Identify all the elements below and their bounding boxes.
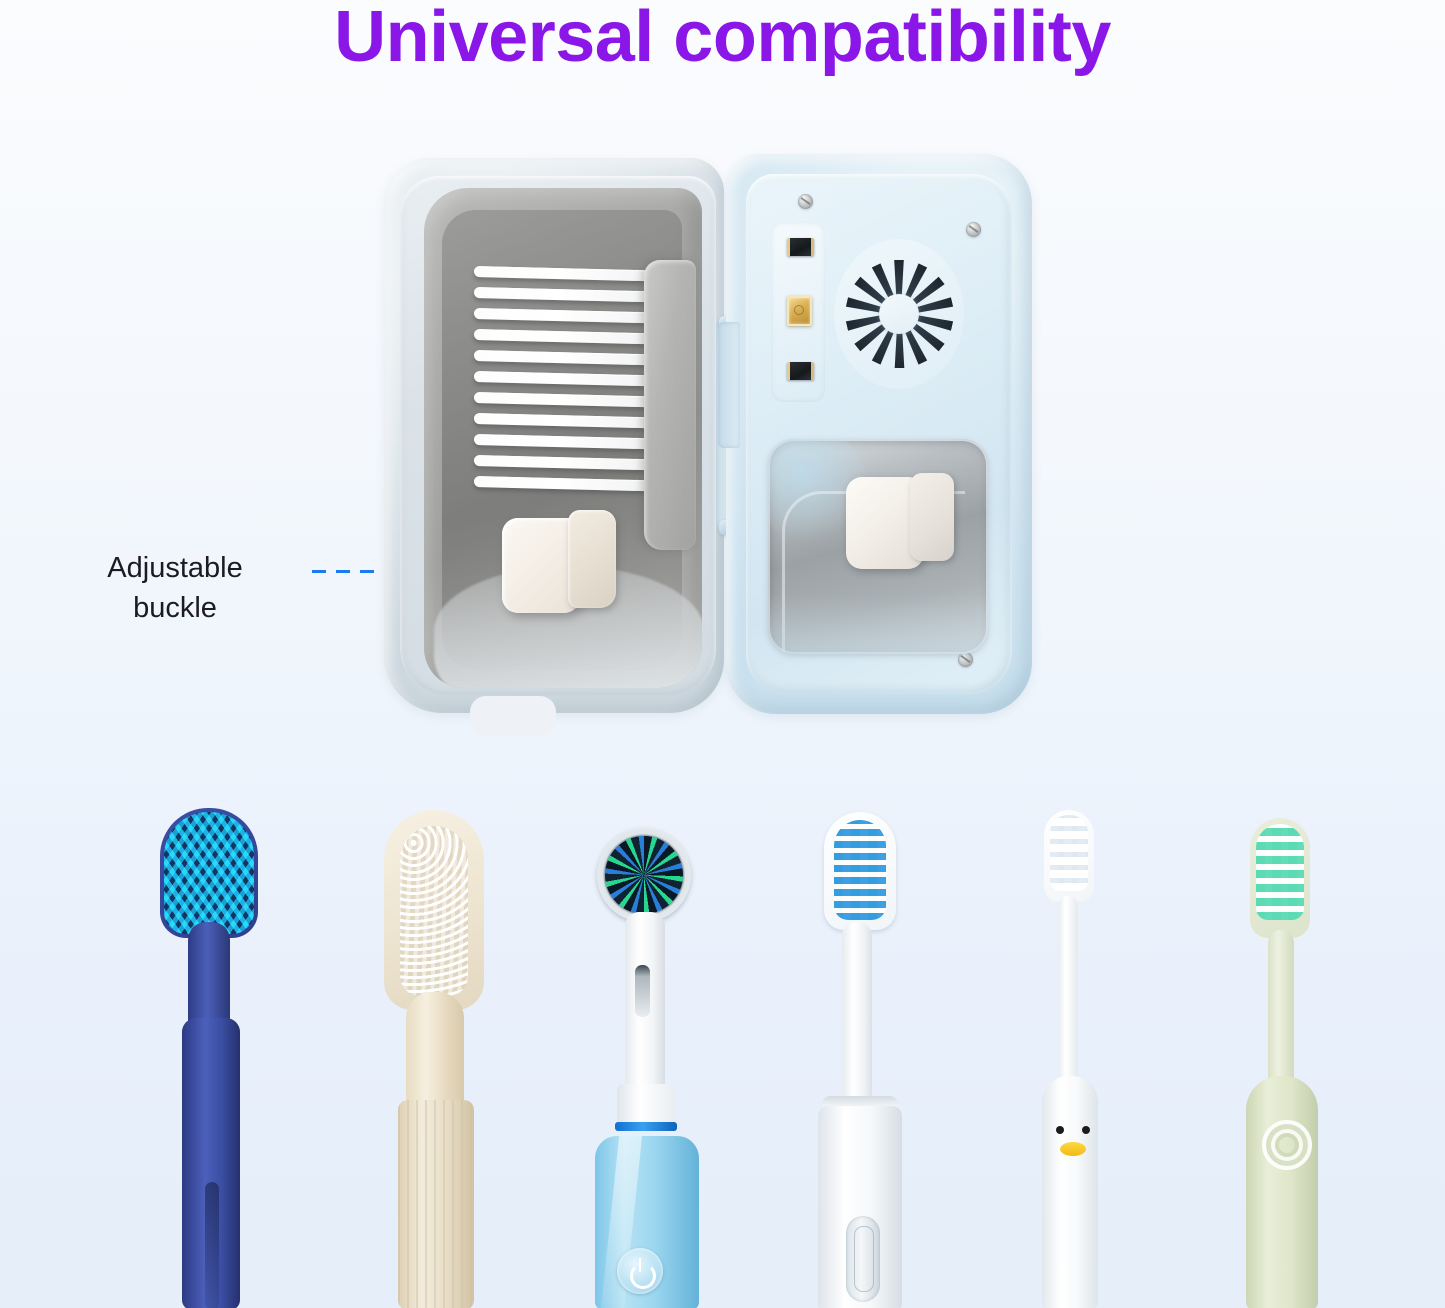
brush-neck (188, 922, 230, 1032)
page-title: Universal compatibility (0, 0, 1445, 78)
power-button[interactable] (617, 1248, 663, 1294)
annotation-label-line2: buckle (60, 588, 290, 628)
toothbrush-electric-sonic-white (800, 800, 920, 1308)
fan-grille-icon (834, 239, 964, 389)
duck-eye-left-icon (1056, 1126, 1064, 1134)
vent-slat (474, 392, 663, 408)
brush-accent-band (615, 1122, 677, 1131)
duck-beak-icon (1060, 1142, 1086, 1156)
brush-bristles (1050, 815, 1088, 891)
vent-slat (474, 455, 661, 471)
brush-handle (398, 1100, 474, 1308)
mirror-panel (768, 439, 988, 654)
vent-slat (474, 287, 666, 303)
brush-bristles (164, 812, 254, 934)
vent-slat (474, 308, 665, 324)
lid-side-clip (718, 322, 740, 448)
annotation-label-line1: Adjustable (60, 548, 290, 588)
toothbrush-manual-navy (152, 800, 280, 1308)
power-icon (630, 1263, 656, 1289)
brush-handle (1042, 1076, 1098, 1308)
toothbrush-electric-rotary (575, 800, 715, 1308)
uv-c-led-icon (787, 296, 812, 326)
vent-slat (474, 476, 660, 492)
vent-slat (474, 329, 664, 345)
led-indicator-bottom-icon (787, 362, 814, 380)
compatible-toothbrush-lineup (0, 800, 1445, 1308)
brush-head (1044, 810, 1094, 902)
brush-bristles (605, 836, 683, 914)
brush-bristles (834, 820, 886, 920)
screw-top-left-icon (798, 194, 813, 209)
case-left-tray-half (384, 158, 730, 718)
lid-inner-face (746, 174, 1012, 694)
brush-bristles (400, 826, 468, 996)
brush-collar (617, 1084, 675, 1126)
led-panel (771, 222, 825, 402)
brush-head (597, 828, 691, 922)
vent-slat (474, 350, 664, 366)
vent-slat (474, 371, 663, 387)
power-button[interactable] (846, 1216, 880, 1302)
product-feature-image: Universal compatibility Adjustable buckl… (0, 0, 1445, 1308)
uv-sanitizer-case (380, 150, 1040, 725)
mirror-buckle-reflection-side (910, 473, 954, 561)
brush-neck (842, 922, 872, 1098)
case-right-lid-half (726, 154, 1038, 720)
brush-neck (1058, 896, 1078, 1088)
spiral-swirl-icon (1262, 1120, 1312, 1170)
toothbrush-kids-duck (1008, 800, 1128, 1308)
vent-slat (474, 413, 662, 429)
brush-indicator-strip (635, 965, 650, 1017)
duck-eye-right-icon (1082, 1126, 1090, 1134)
brush-neck (1268, 930, 1294, 1090)
adjustable-buckle[interactable] (502, 510, 618, 614)
vent-slat (474, 434, 661, 450)
buckle-side-lobe (568, 510, 616, 608)
brush-handle (1246, 1076, 1318, 1308)
mirror-bottom-sheen (768, 594, 988, 654)
screw-bottom-right-icon (958, 652, 973, 667)
screw-top-right-icon (966, 222, 981, 237)
brush-head (824, 812, 896, 930)
fan-hub (879, 294, 919, 334)
annotation-label: Adjustable buckle (60, 548, 290, 628)
brush-head (384, 810, 484, 1010)
led-indicator-top-icon (787, 238, 814, 256)
brush-head (1250, 818, 1310, 938)
toothbrush-kids-sage (1222, 800, 1342, 1308)
tray-side-ridge (644, 260, 696, 550)
brush-bristles (1256, 824, 1304, 920)
vent-slat (474, 266, 666, 282)
brush-head (160, 808, 258, 938)
tray-bottom-notch (470, 696, 556, 736)
toothbrush-bamboo (372, 800, 502, 1308)
brush-handle (182, 1018, 240, 1308)
